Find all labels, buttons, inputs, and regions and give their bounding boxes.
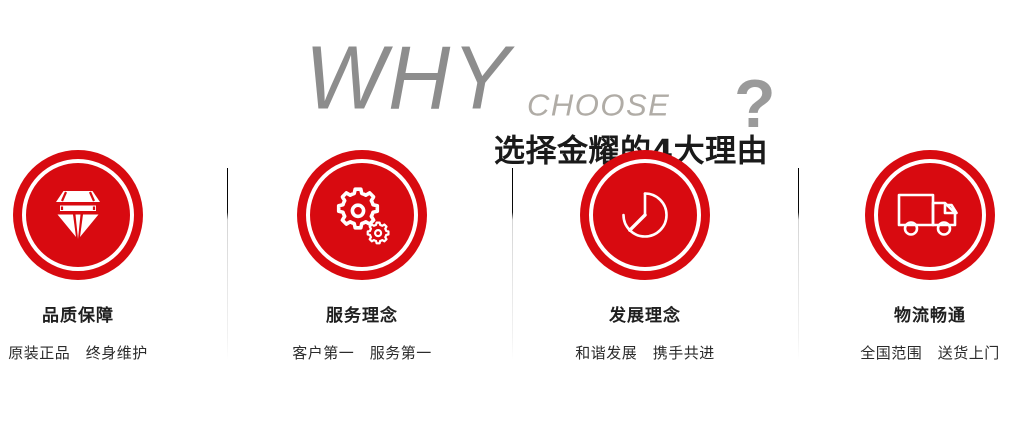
feature-subtitle: 客户第一 服务第一	[252, 344, 472, 362]
why-choose-us-banner: WHY CHOOSE 选择金耀的4大理由 ?	[0, 0, 1011, 434]
gears-icon	[297, 150, 427, 280]
feature-subtitle: 原装正品 终身维护	[0, 344, 188, 362]
icon-badge	[580, 150, 710, 280]
feature-subtitle: 和谐发展 携手共进	[535, 344, 755, 362]
icon-badge	[297, 150, 427, 280]
feature-title: 服务理念	[252, 306, 472, 326]
feature-item-quality: 品质保障 原装正品 终身维护	[0, 150, 188, 362]
feature-item-service: 服务理念 客户第一 服务第一	[252, 150, 472, 362]
stopwatch-icon	[580, 150, 710, 280]
diamond-icon	[13, 150, 143, 280]
question-mark: ?	[734, 70, 776, 138]
feature-item-logistics: 物流畅通 全国范围 送货上门	[820, 150, 1011, 362]
delivery-truck-icon	[865, 150, 995, 280]
choose-heading: CHOOSE	[527, 90, 670, 121]
feature-title: 品质保障	[0, 306, 188, 326]
why-heading: WHY	[305, 33, 512, 123]
banner-header: WHY CHOOSE 选择金耀的4大理由 ?	[0, 42, 1011, 142]
icon-badge	[865, 150, 995, 280]
feature-item-development: 发展理念 和谐发展 携手共进	[535, 150, 755, 362]
icon-badge	[13, 150, 143, 280]
feature-subtitle: 全国范围 送货上门	[820, 344, 1011, 362]
feature-title: 发展理念	[535, 306, 755, 326]
feature-columns: 品质保障 原装正品 终身维护	[0, 150, 1011, 390]
feature-title: 物流畅通	[820, 306, 1011, 326]
